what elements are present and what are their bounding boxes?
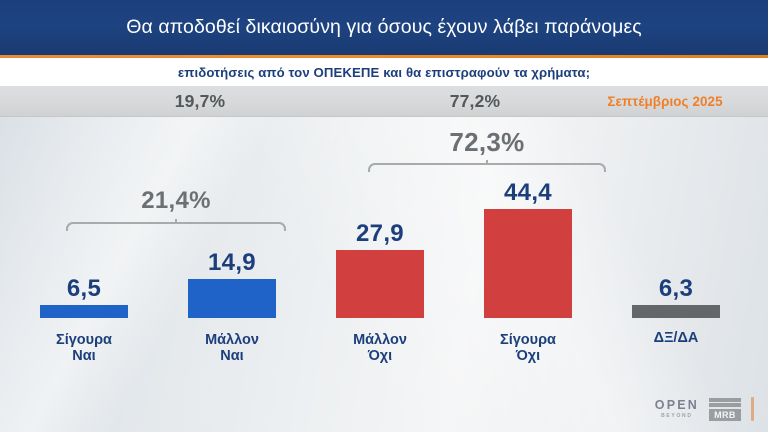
bar-label-line2: Ναι	[220, 348, 243, 364]
bar-label-line1: Μάλλον	[353, 332, 407, 348]
page-subtitle: επιδοτήσεις από τον ΟΠΕΚΕΠΕ και θα επιστ…	[0, 58, 768, 86]
bar-value: 6,5	[24, 275, 144, 303]
mrb-logo: MRB	[709, 398, 741, 421]
bar-rect	[188, 279, 276, 318]
bar-value: 14,9	[172, 249, 292, 277]
survey-date-badge: Σεπτέμβριος 2025	[580, 89, 750, 114]
mrb-logo-text: MRB	[709, 409, 741, 421]
bar-label: ΔΞ/ΔΑ	[616, 330, 736, 347]
footer-logos: OPEN BEYOND MRB	[655, 397, 754, 421]
logo-divider	[751, 397, 754, 421]
beyond-logo-text: BEYOND	[661, 414, 693, 419]
summary-yes-total: 19,7%	[115, 88, 285, 115]
bar-label-line1: Σίγουρα	[500, 332, 556, 348]
bar-rect	[336, 250, 424, 318]
bar-label: Σίγουρα Ναι	[24, 332, 144, 365]
open-beyond-logo: OPEN BEYOND	[655, 399, 699, 419]
open-logo-text: OPEN	[655, 399, 699, 412]
page-title: Θα αποδοθεί δικαιοσύνη για όσους έχουν λ…	[0, 0, 768, 55]
bar-label-line2: Όχι	[368, 348, 392, 364]
bar-label-line1: ΔΞ/ΔΑ	[654, 330, 699, 346]
bar-column-dk-na: 6,3 ΔΞ/ΔΑ	[616, 117, 736, 367]
bar-value: 44,4	[468, 179, 588, 207]
bar-column-sigoura-nai: 6,5 Σίγουρα Ναι	[24, 117, 144, 367]
bar-chart: 6,5 Σίγουρα Ναι 14,9 Μάλλον Ναι 27,9 Μάλ…	[0, 117, 768, 367]
bar-label-line2: Όχι	[516, 348, 540, 364]
bar-rect	[632, 305, 720, 318]
bar-label-line1: Σίγουρα	[56, 332, 112, 348]
bar-rect	[484, 209, 572, 318]
bar-label: Μάλλον Ναι	[172, 332, 292, 365]
bar-column-mallon-nai: 14,9 Μάλλον Ναι	[172, 117, 292, 367]
bar-column-sigoura-ochi: 44,4 Σίγουρα Όχι	[468, 117, 588, 367]
summary-no-total: 77,2%	[390, 88, 560, 115]
bar-value: 27,9	[320, 220, 440, 248]
bar-rect	[40, 305, 128, 318]
bar-value: 6,3	[616, 275, 736, 303]
bar-column-mallon-ochi: 27,9 Μάλλον Όχι	[320, 117, 440, 367]
bar-label-line1: Μάλλον	[205, 332, 259, 348]
bar-label: Σίγουρα Όχι	[468, 332, 588, 365]
mrb-logo-bar	[709, 403, 741, 407]
mrb-logo-bar	[709, 398, 741, 402]
bar-label: Μάλλον Όχι	[320, 332, 440, 365]
bar-label-line2: Ναι	[72, 348, 95, 364]
poll-result-graphic: Θα αποδοθεί δικαιοσύνη για όσους έχουν λ…	[0, 0, 768, 432]
